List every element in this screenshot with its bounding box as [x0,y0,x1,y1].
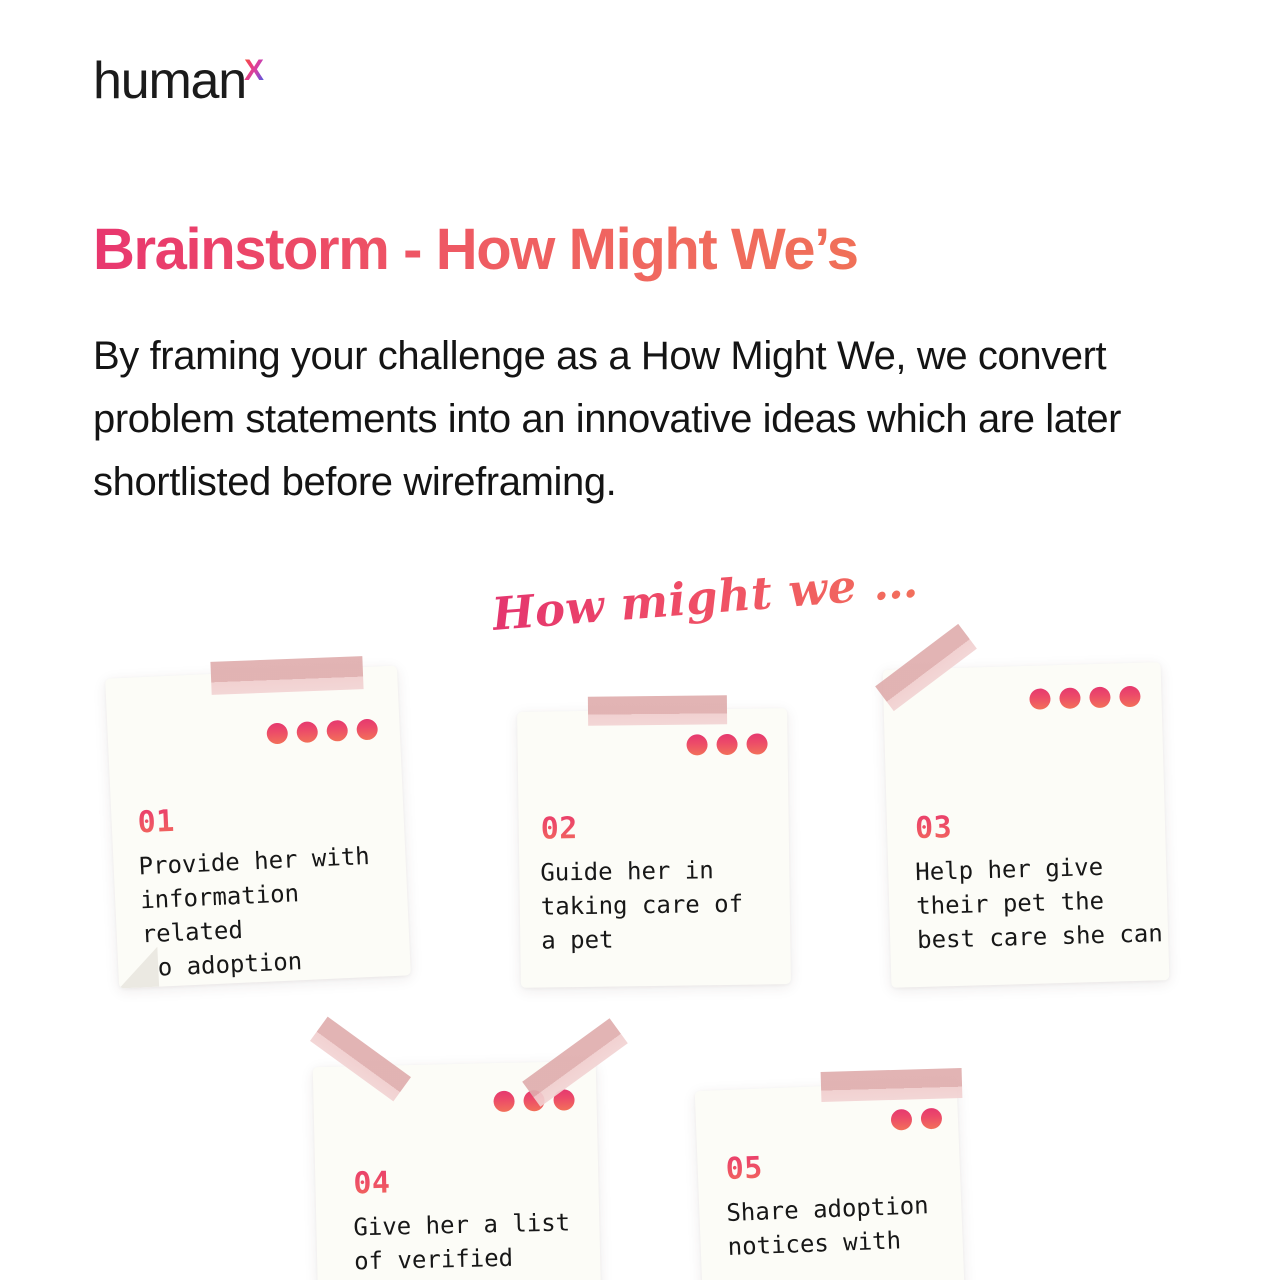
sticky-note-surface: 05 Share adoption notices with [695,1081,968,1280]
status-dot [326,720,348,742]
status-dot [686,734,707,755]
status-dots [891,1108,943,1131]
sticky-note-01[interactable]: 01 Provide her with information related … [105,666,411,989]
sticky-note-surface: 03 Help her give their pet the best care… [883,662,1170,988]
board-caption: How might we … [490,555,920,641]
slide-root: { "brand": { "word": "human", "mark": "X… [0,0,1280,1280]
note-text: Provide her with information related to … [138,837,411,985]
sticky-notes-board: How might we … 01 Provide her with infor… [0,0,1280,1280]
corner-fold-icon [117,947,159,989]
status-dot [1029,688,1051,710]
status-dot [746,733,767,754]
note-number: 05 [725,1151,763,1187]
status-dot [921,1108,943,1130]
note-text: Help her give their pet the best care sh… [915,848,1163,957]
sticky-note-surface: 02 Guide her in taking care of a pet [517,708,791,988]
status-dot [1059,687,1081,709]
note-text: Guide her in taking care of a pet [540,853,744,958]
status-dot [356,718,378,740]
status-dot [891,1109,913,1131]
sticky-note-05[interactable]: 05 Share adoption notices with [695,1081,968,1280]
note-number: 01 [137,804,176,841]
tape-strip [821,1068,963,1102]
status-dot [296,721,318,743]
sticky-note-02[interactable]: 02 Guide her in taking care of a pet [517,708,791,988]
sticky-note-04[interactable]: 04 Give her a list of verified [313,1061,603,1280]
tape-strip [210,656,363,695]
sticky-note-surface: 04 Give her a list of verified [313,1061,603,1280]
note-number: 02 [540,811,578,847]
note-text: Share adoption notices with [726,1188,931,1264]
status-dot [266,723,288,745]
sticky-note-surface: 01 Provide her with information related … [105,666,411,989]
status-dot [1089,687,1111,709]
note-number: 04 [353,1166,391,1202]
status-dots [686,733,767,755]
sticky-note-03[interactable]: 03 Help her give their pet the best care… [883,662,1170,988]
note-text: Give her a list of verified [353,1205,571,1278]
note-number: 03 [915,810,953,846]
status-dots [1029,686,1141,710]
tape-strip [588,695,727,725]
status-dots [266,718,378,744]
status-dot [493,1091,514,1112]
status-dot [716,734,737,755]
status-dot [1119,686,1141,708]
